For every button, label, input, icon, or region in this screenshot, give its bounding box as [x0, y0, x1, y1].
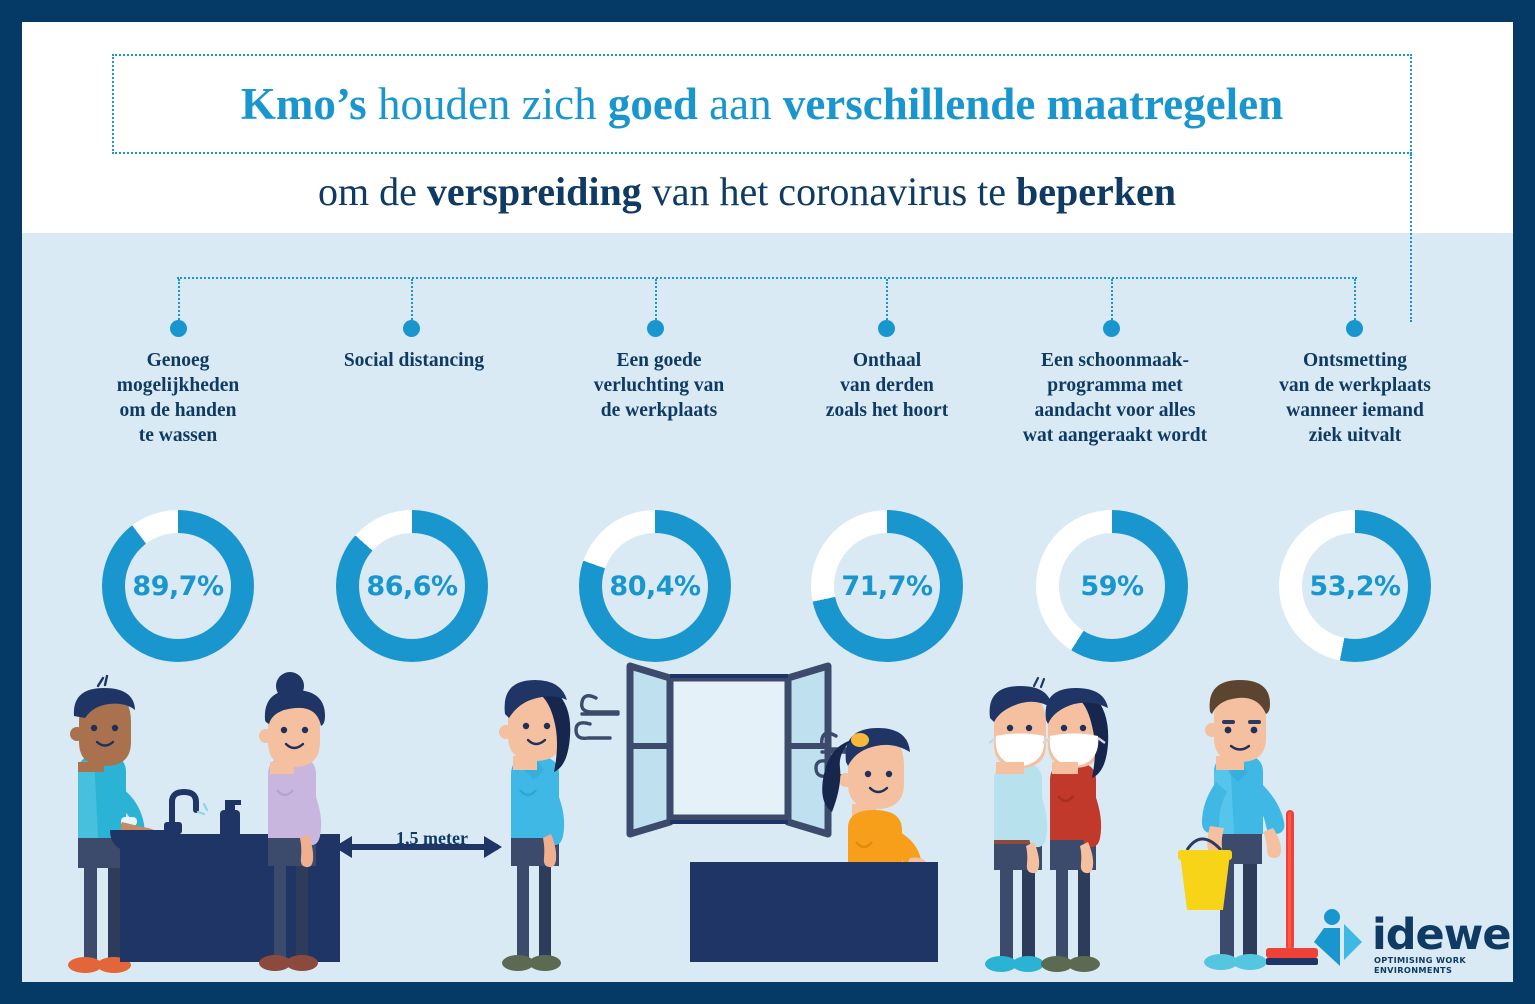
- column-header-line: programma met: [996, 373, 1234, 398]
- connector-drop-2: [411, 279, 413, 324]
- donut-value-label: 80,4%: [609, 571, 700, 602]
- title-word-verschillende-maatregelen: verschillende maatregelen: [783, 79, 1283, 129]
- title-word-van-het-coronavirus-te: van het coronavirus te: [652, 169, 1006, 214]
- column-header-line: Social distancing: [301, 348, 527, 373]
- connector-dot-4: [878, 320, 895, 337]
- column-header-line: wat aangeraakt wordt: [996, 423, 1234, 448]
- column-header-line: van de werkplaats: [1250, 373, 1460, 398]
- donut-center: 80,4%: [602, 533, 708, 639]
- column-header-line: zoals het hoort: [794, 398, 980, 423]
- column-header-line: ziek uitvalt: [1250, 423, 1460, 448]
- scene-cleaner: [1178, 680, 1318, 970]
- infographic-poster: Kmo’s houden zich goed aan verschillende…: [22, 22, 1513, 982]
- connector-drop-6: [1354, 279, 1356, 324]
- column-header-cleaning-programme: Een schoonmaak- programma met aandacht v…: [996, 348, 1234, 448]
- title-word-houden-zich: houden zich: [378, 79, 597, 129]
- idewe-wordmark: idewe: [1372, 910, 1511, 960]
- donut-value-label: 89,7%: [132, 571, 223, 602]
- donut-value-label: 86,6%: [366, 571, 457, 602]
- connector-dot-2: [403, 320, 420, 337]
- column-header-line: van derden: [794, 373, 980, 398]
- donut-ring: 53,2%: [1279, 510, 1431, 662]
- idewe-logo[interactable]: idewe OPTIMISING WORK ENVIRONMENTS: [1310, 908, 1490, 972]
- title-line-2: om de verspreiding van het coronavirus t…: [82, 162, 1412, 222]
- connector-dot-5: [1103, 320, 1120, 337]
- donut-center: 86,6%: [359, 533, 465, 639]
- title-line-1: Kmo’s houden zich goed aan verschillende…: [112, 70, 1412, 138]
- column-header-line: aandacht voor alles: [996, 398, 1234, 423]
- idewe-logo-icon: [1310, 908, 1368, 968]
- column-header-line: mogelijkheden: [88, 373, 268, 398]
- connector-line-from-title: [1410, 154, 1412, 322]
- column-header-ventilation: Een goede verluchting van de werkplaats: [561, 348, 757, 423]
- donut-value-label: 59%: [1080, 571, 1143, 602]
- title-word-kmos: Kmo’s: [241, 79, 367, 129]
- title-word-aan: aan: [709, 79, 771, 129]
- donut-center: 59%: [1059, 533, 1165, 639]
- scene-social-distancing: [334, 680, 570, 971]
- title-word-beperken: beperken: [1016, 169, 1176, 214]
- donut-center: 89,7%: [125, 533, 231, 639]
- connector-drop-1: [178, 279, 180, 324]
- column-header-line: om de handen: [88, 398, 268, 423]
- donut-chart-handwashing: 89,7%: [102, 510, 254, 662]
- donut-chart-ventilation: 80,4%: [579, 510, 731, 662]
- connector-dot-6: [1346, 320, 1363, 337]
- donut-chart-disinfection: 53,2%: [1279, 510, 1431, 662]
- illustration-strip: [22, 662, 1513, 982]
- title-word-goed: goed: [608, 79, 698, 129]
- scene-face-masks: [985, 678, 1108, 972]
- title-word-om-de: om de: [318, 169, 417, 214]
- connector-rail: [177, 277, 1357, 279]
- donut-center: 71,7%: [834, 533, 940, 639]
- connector-dot-3: [647, 320, 664, 337]
- donut-chart-visitor-reception: 71,7%: [811, 510, 963, 662]
- column-header-line: verluchting van: [561, 373, 757, 398]
- column-header-line: Een goede: [561, 348, 757, 373]
- idewe-tagline: OPTIMISING WORK ENVIRONMENTS: [1374, 955, 1490, 975]
- column-header-handwashing: Genoeg mogelijkheden om de handen te was…: [88, 348, 268, 448]
- scene-handwashing: [68, 672, 340, 973]
- connector-dot-1: [170, 320, 187, 337]
- column-header-visitor-reception: Onthaal van derden zoals het hoort: [794, 348, 980, 423]
- column-header-line: Genoeg: [88, 348, 268, 373]
- donut-chart-social-distancing: 86,6%: [336, 510, 488, 662]
- scene-ventilation: [576, 666, 938, 962]
- column-header-line: Ontsmetting: [1250, 348, 1460, 373]
- column-header-line: te wassen: [88, 423, 268, 448]
- donut-center: 53,2%: [1302, 533, 1408, 639]
- column-header-social-distancing: Social distancing: [301, 348, 527, 373]
- column-header-disinfection: Ontsmetting van de werkplaats wanneer ie…: [1250, 348, 1460, 448]
- donut-ring: 89,7%: [102, 510, 254, 662]
- donut-chart-cleaning-programme: 59%: [1036, 510, 1188, 662]
- distance-label: 1,5 meter: [352, 828, 512, 849]
- connector-drop-4: [886, 279, 888, 324]
- donut-ring: 86,6%: [336, 510, 488, 662]
- donut-value-label: 53,2%: [1309, 571, 1400, 602]
- column-header-line: wanneer iemand: [1250, 398, 1460, 423]
- title-word-verspreiding: verspreiding: [427, 169, 642, 214]
- connector-drop-5: [1111, 279, 1113, 324]
- column-header-line: Onthaal: [794, 348, 980, 373]
- connector-drop-3: [655, 279, 657, 324]
- donut-ring: 59%: [1036, 510, 1188, 662]
- column-header-line: Een schoonmaak-: [996, 348, 1234, 373]
- donut-ring: 80,4%: [579, 510, 731, 662]
- column-header-line: de werkplaats: [561, 398, 757, 423]
- donut-value-label: 71,7%: [841, 571, 932, 602]
- donut-ring: 71,7%: [811, 510, 963, 662]
